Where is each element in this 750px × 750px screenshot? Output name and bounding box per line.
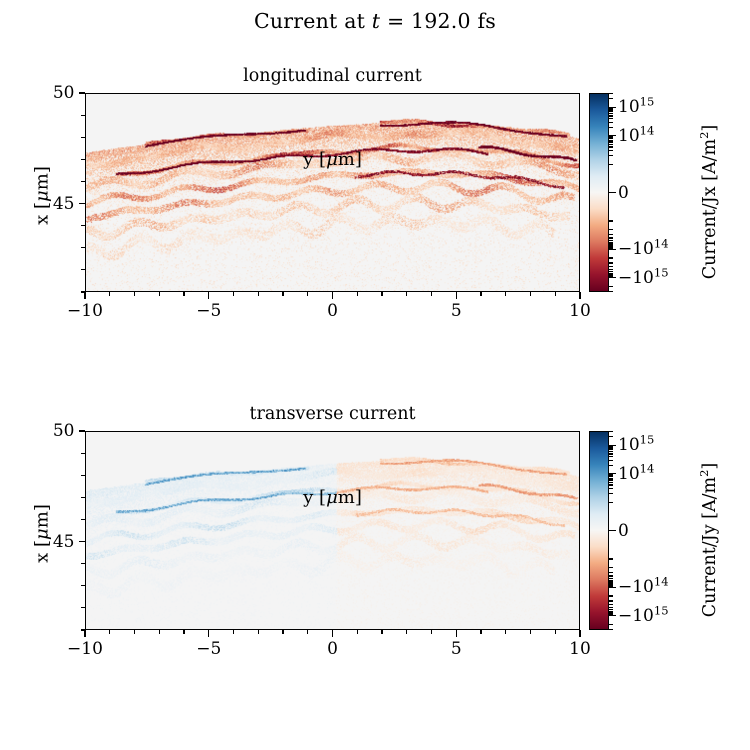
- xtick-minor: [555, 292, 556, 296]
- xtick-major: [456, 630, 457, 637]
- colorbar-tick-minor: [609, 446, 613, 447]
- xtick-minor: [159, 292, 160, 296]
- colorbar-tick-minor: [609, 146, 613, 147]
- panel-longitudinal: longitudinal current −10−505105045 y [μm…: [85, 93, 580, 292]
- panel-transverse-title: transverse current: [85, 404, 580, 424]
- colorbar-tick-minor: [609, 286, 613, 287]
- colorbar-tick-minor: [609, 572, 613, 573]
- colorbar-tick-minor: [609, 493, 613, 494]
- ytick-minor: [81, 181, 85, 182]
- xtick-minor: [530, 292, 531, 296]
- colorbar-tick-major: [609, 249, 616, 250]
- xtick-minor: [406, 630, 407, 634]
- ytick-major: [79, 203, 86, 204]
- colorbar-tick-minor: [609, 141, 613, 142]
- colorbar-tick-minor: [609, 558, 613, 559]
- colorbar-tick-minor: [609, 127, 613, 128]
- colorbar-jy[interactable]: [589, 431, 609, 630]
- xtick-minor: [183, 292, 184, 296]
- xtick-minor: [555, 630, 556, 634]
- colorbar-tick-minor: [609, 474, 613, 475]
- panel-transverse-scatter: [86, 432, 579, 629]
- colorbar-tick-minor: [609, 113, 613, 114]
- colorbar-tick-minor: [609, 136, 613, 137]
- ytick-minor: [81, 519, 85, 520]
- colorbar-tick-minor: [609, 122, 613, 123]
- colorbar-tick-minor: [609, 484, 613, 485]
- xtick-label: −10: [67, 639, 103, 659]
- colorbar-jx-gradient: [590, 94, 608, 291]
- panel-longitudinal-axes[interactable]: [85, 93, 580, 292]
- xtick-minor: [134, 292, 135, 296]
- colorbar-tick-minor: [609, 460, 613, 461]
- xtick-label: 5: [451, 301, 462, 321]
- xtick-major: [208, 630, 209, 637]
- xtick-major: [579, 292, 580, 299]
- panel-longitudinal-scatter: [86, 94, 579, 291]
- xtick-label: 10: [569, 639, 591, 659]
- colorbar-tick-minor: [609, 478, 613, 479]
- ytick-minor: [81, 137, 85, 138]
- ytick-major: [79, 541, 86, 542]
- xtick-major: [332, 292, 333, 299]
- colorbar-tick-minor: [609, 449, 613, 450]
- xtick-minor: [109, 630, 110, 634]
- ytick-minor: [81, 247, 85, 248]
- colorbar-tick-minor: [609, 138, 613, 139]
- xtick-label: 0: [327, 301, 338, 321]
- xtick-minor: [406, 292, 407, 296]
- colorbar-tick-label: 0: [618, 183, 629, 203]
- xtick-minor: [159, 630, 160, 634]
- xtick-label: 10: [569, 301, 591, 321]
- colorbar-tick-minor: [609, 257, 613, 258]
- xtick-major: [84, 630, 85, 637]
- colorbar-tick-minor: [609, 607, 613, 608]
- xtick-minor: [357, 292, 358, 296]
- colorbar-tick-minor: [609, 595, 613, 596]
- colorbar-tick-label: 1015: [618, 435, 654, 455]
- ytick-minor: [81, 475, 85, 476]
- colorbar-tick-minor: [609, 108, 613, 109]
- xtick-minor: [307, 630, 308, 634]
- colorbar-tick-minor: [609, 456, 613, 457]
- colorbar-tick-minor: [609, 600, 613, 601]
- panel-longitudinal-title: longitudinal current: [85, 66, 580, 86]
- colorbar-tick-minor: [609, 502, 613, 503]
- xtick-minor: [357, 630, 358, 634]
- ytick-major: [79, 430, 86, 431]
- xtick-minor: [282, 630, 283, 634]
- colorbar-tick-minor: [609, 118, 613, 119]
- xtick-minor: [282, 292, 283, 296]
- colorbar-tick-minor: [609, 262, 613, 263]
- panel-longitudinal-xlabel: y [μm]: [85, 149, 580, 170]
- colorbar-jx[interactable]: [589, 93, 609, 292]
- colorbar-tick-minor: [609, 220, 613, 221]
- xtick-minor: [183, 630, 184, 634]
- xtick-minor: [381, 630, 382, 634]
- colorbar-tick-minor: [609, 476, 613, 477]
- xtick-major: [332, 630, 333, 637]
- colorbar-tick-minor: [609, 451, 613, 452]
- colorbar-tick-minor: [609, 144, 613, 145]
- xtick-minor: [233, 292, 234, 296]
- ytick-minor: [81, 585, 85, 586]
- ytick-label: 50: [31, 83, 75, 103]
- xtick-label: −5: [196, 301, 221, 321]
- colorbar-tick-minor: [609, 150, 613, 151]
- colorbar-tick-minor: [609, 482, 613, 483]
- xtick-minor: [258, 630, 259, 634]
- colorbar-tick-minor: [609, 629, 613, 630]
- colorbar-tick-minor: [609, 276, 613, 277]
- colorbar-tick-minor: [609, 93, 613, 94]
- ytick-minor: [81, 115, 85, 116]
- panel-longitudinal-ylabel: x [μm]: [32, 136, 53, 256]
- xtick-minor: [480, 630, 481, 634]
- colorbar-tick-minor: [609, 140, 613, 141]
- colorbar-tick-label: −1015: [618, 606, 669, 626]
- colorbar-tick-label: 1014: [618, 126, 654, 146]
- colorbar-jy-gradient: [590, 432, 608, 629]
- colorbar-tick-minor: [609, 291, 613, 292]
- xtick-minor: [530, 630, 531, 634]
- ytick-minor: [81, 453, 85, 454]
- colorbar-tick-major: [609, 615, 616, 616]
- colorbar-tick-minor: [609, 567, 613, 568]
- xtick-minor: [307, 292, 308, 296]
- colorbar-tick-minor: [609, 578, 613, 579]
- xtick-minor: [134, 630, 135, 634]
- colorbar-tick-minor: [609, 164, 613, 165]
- colorbar-tick-minor: [609, 624, 613, 625]
- colorbar-tick-minor: [609, 115, 613, 116]
- xtick-label: 5: [451, 639, 462, 659]
- ytick-minor: [81, 563, 85, 564]
- colorbar-tick-minor: [609, 585, 613, 586]
- colorbar-jy-label: Current/Jy [A/m2]: [700, 435, 720, 645]
- colorbar-tick-label: 1014: [618, 464, 654, 484]
- ytick-major: [79, 92, 86, 93]
- panel-transverse-ylabel: x [μm]: [32, 474, 53, 594]
- colorbar-tick-minor: [609, 431, 613, 432]
- xtick-minor: [480, 292, 481, 296]
- xtick-label: −5: [196, 639, 221, 659]
- xtick-minor: [381, 292, 382, 296]
- ytick-minor: [81, 225, 85, 226]
- colorbar-tick-minor: [609, 109, 613, 110]
- figure-title-suffix: = 192.0 fs: [380, 9, 496, 33]
- colorbar-tick-minor: [609, 453, 613, 454]
- colorbar-tick-label: −1014: [618, 239, 669, 259]
- colorbar-tick-major: [609, 587, 616, 588]
- figure-title-prefix: Current at: [254, 9, 372, 33]
- xtick-minor: [431, 630, 432, 634]
- colorbar-tick-label: 1015: [618, 97, 654, 117]
- xtick-label: −10: [67, 301, 103, 321]
- colorbar-tick-minor: [609, 229, 613, 230]
- xtick-minor: [505, 630, 506, 634]
- colorbar-tick-minor: [609, 234, 613, 235]
- ytick-label: 50: [31, 421, 75, 441]
- colorbar-tick-major: [609, 277, 616, 278]
- xtick-major: [579, 630, 580, 637]
- colorbar-tick-major: [609, 530, 616, 531]
- colorbar-tick-minor: [609, 614, 613, 615]
- xtick-major: [456, 292, 457, 299]
- colorbar-tick-minor: [609, 447, 613, 448]
- colorbar-tick-minor: [609, 155, 613, 156]
- colorbar-tick-minor: [609, 111, 613, 112]
- figure-title: Current at t = 192.0 fs: [0, 10, 750, 33]
- ytick-minor: [81, 269, 85, 270]
- panel-transverse-xlabel: y [μm]: [85, 487, 580, 508]
- xtick-label: 0: [327, 639, 338, 659]
- xtick-major: [84, 292, 85, 299]
- colorbar-tick-minor: [609, 575, 613, 576]
- xtick-major: [208, 292, 209, 299]
- xtick-minor: [258, 292, 259, 296]
- figure-title-variable: t: [372, 9, 380, 33]
- colorbar-tick-minor: [609, 436, 613, 437]
- colorbar-tick-minor: [609, 266, 613, 267]
- ytick-minor: [81, 629, 85, 630]
- figure-canvas: Current at t = 192.0 fs longitudinal cur…: [0, 0, 750, 750]
- colorbar-tick-minor: [609, 247, 613, 248]
- colorbar-tick-minor: [609, 98, 613, 99]
- panel-transverse-axes[interactable]: [85, 431, 580, 630]
- ytick-minor: [81, 291, 85, 292]
- panel-transverse: transverse current −10−505105045 y [μm] …: [85, 431, 580, 630]
- colorbar-tick-minor: [609, 240, 613, 241]
- xtick-minor: [233, 630, 234, 634]
- colorbar-tick-minor: [609, 488, 613, 489]
- colorbar-jx-label: Current/Jx [A/m2]: [700, 97, 720, 307]
- colorbar-tick-minor: [609, 479, 613, 480]
- colorbar-tick-minor: [609, 237, 613, 238]
- xtick-minor: [431, 292, 432, 296]
- colorbar-tick-minor: [609, 269, 613, 270]
- colorbar-tick-label: 0: [618, 521, 629, 541]
- colorbar-tick-label: −1015: [618, 268, 669, 288]
- colorbar-tick-label: −1014: [618, 577, 669, 597]
- xtick-minor: [109, 292, 110, 296]
- colorbar-tick-minor: [609, 604, 613, 605]
- colorbar-tick-minor: [609, 465, 613, 466]
- xtick-minor: [505, 292, 506, 296]
- colorbar-tick-major: [609, 192, 616, 193]
- ytick-minor: [81, 607, 85, 608]
